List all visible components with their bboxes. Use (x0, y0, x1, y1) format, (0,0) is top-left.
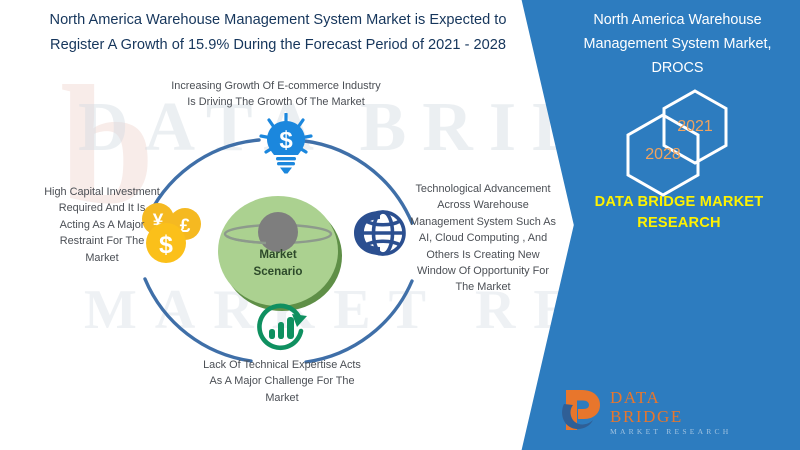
lightbulb-dollar-icon: $ (258, 113, 314, 175)
logo-text: DATA BRIDGE MARKET RESEARCH (610, 388, 738, 438)
hexagon-2028-label: 2028 (645, 146, 681, 164)
panel-title-line-2: Management System Market, (555, 32, 800, 56)
logo-primary-text: DATA BRIDGE (610, 388, 738, 426)
logo-secondary-text: MARKET RESEARCH (610, 426, 738, 438)
challenge-text-bottom: Lack Of Technical Expertise Acts As A Ma… (200, 357, 364, 406)
restraint-text-left: High Capital Investment Required And It … (44, 184, 160, 266)
data-bridge-logo: DATA BRIDGE MARKET RESEARCH (558, 386, 738, 432)
driver-text-top: Increasing Growth Of E-commerce Industry… (168, 78, 384, 111)
headline-line-1: North America Warehouse Management Syste… (18, 8, 538, 33)
market-scenario-label-line-2: Scenario (218, 263, 338, 280)
headline-line-2: Register A Growth of 15.9% During the Fo… (18, 33, 538, 58)
market-scenario-label: Market Scenario (218, 246, 338, 280)
panel-title-line-1: North America Warehouse (555, 8, 800, 32)
hexagon-2021-label: 2021 (677, 118, 713, 136)
globe-phone-icon (350, 204, 408, 262)
market-scenario-label-line-1: Market (218, 246, 338, 263)
panel-brand-name: DATA BRIDGE MARKET RESEARCH (560, 192, 798, 234)
panel-title-line-3: DROCS (555, 56, 800, 80)
opportunity-text-right: Technological Advancement Across Warehou… (408, 181, 558, 296)
panel-title: North America Warehouse Management Syste… (555, 8, 800, 80)
infographic-canvas: b DATA BRIDGE MARKET RESEARCH North Amer… (0, 0, 800, 450)
bar-chart-refresh-icon (252, 297, 314, 355)
svg-text:$: $ (159, 231, 173, 259)
panel-brand-line-1: DATA BRIDGE MARKET (560, 192, 798, 213)
svg-text:$: $ (279, 127, 293, 154)
data-bridge-mark-icon (558, 386, 608, 432)
panel-brand-line-2: RESEARCH (560, 213, 798, 234)
page-title: North America Warehouse Management Syste… (18, 8, 538, 58)
